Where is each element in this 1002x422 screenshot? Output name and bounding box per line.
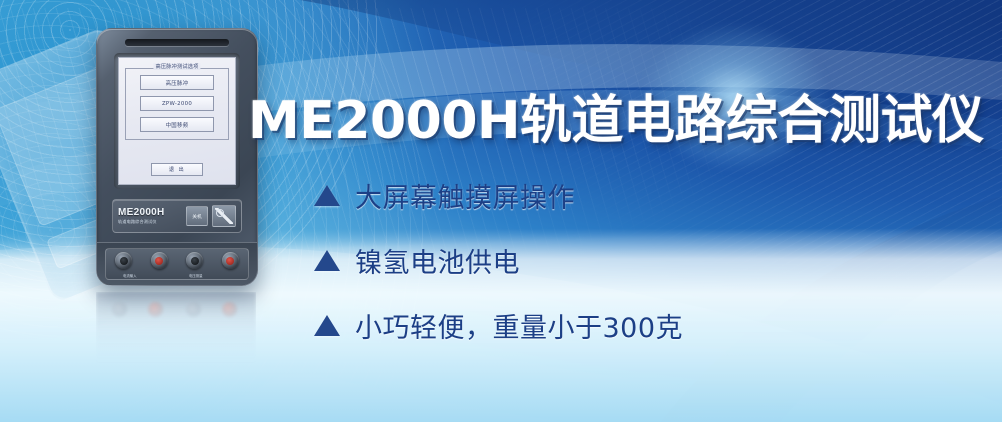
port-label-current: 电流输入 bbox=[123, 273, 137, 278]
device-reflection bbox=[96, 292, 256, 388]
brightness-icon[interactable] bbox=[212, 205, 236, 227]
device-model-subtitle: 轨道电路综合测试仪 bbox=[118, 220, 182, 224]
port-current-red[interactable] bbox=[151, 252, 168, 269]
device-lcd-screen[interactable]: 高压脉冲测试选项 高压脉冲 ZPW-2000 中国移频 退 出 bbox=[118, 57, 236, 185]
port-current-black[interactable] bbox=[115, 252, 132, 269]
device-power-off-key[interactable]: 关机 bbox=[186, 206, 208, 226]
screen-option-2[interactable]: ZPW-2000 bbox=[140, 96, 214, 111]
feature-label: 小巧轻便，重量小于300克 bbox=[355, 306, 683, 345]
port-voltage-red[interactable] bbox=[222, 252, 239, 269]
screen-group-title: 高压脉冲测试选项 bbox=[153, 63, 200, 70]
device-bottom-panel: 电流输入 电压测量 bbox=[97, 242, 257, 285]
feature-item: 小巧轻便，重量小于300克 bbox=[314, 306, 683, 345]
triangle-bullet-icon bbox=[314, 250, 340, 271]
feature-item: 大屏幕触摸屏操作 bbox=[314, 176, 683, 215]
triangle-bullet-icon bbox=[314, 315, 340, 336]
device-screen-bezel: 高压脉冲测试选项 高压脉冲 ZPW-2000 中国移频 退 出 bbox=[114, 53, 240, 189]
feature-list: 大屏幕触摸屏操作 镍氢电池供电 小巧轻便，重量小于300克 bbox=[314, 176, 683, 345]
screen-option-group: 高压脉冲测试选项 高压脉冲 ZPW-2000 中国移频 bbox=[125, 68, 229, 140]
device-label-plate: ME2000H 轨道电路综合测试仪 关机 bbox=[112, 199, 242, 233]
page-title: ME2000H轨道电路综合测试仪 bbox=[248, 78, 984, 153]
feature-label: 大屏幕触摸屏操作 bbox=[355, 176, 575, 215]
feature-item: 镍氢电池供电 bbox=[314, 241, 683, 280]
feature-label: 镍氢电池供电 bbox=[355, 241, 520, 280]
screen-option-1[interactable]: 高压脉冲 bbox=[140, 75, 214, 90]
product-banner: 高压脉冲测试选项 高压脉冲 ZPW-2000 中国移频 退 出 ME2000H … bbox=[0, 0, 1002, 422]
screen-exit-button[interactable]: 退 出 bbox=[151, 163, 203, 176]
device-port-bar: 电流输入 电压测量 bbox=[105, 248, 249, 280]
port-label-voltage: 电压测量 bbox=[189, 273, 203, 278]
port-voltage-black[interactable] bbox=[186, 252, 203, 269]
screen-option-3[interactable]: 中国移频 bbox=[140, 117, 214, 132]
device-photo: 高压脉冲测试选项 高压脉冲 ZPW-2000 中国移频 退 出 ME2000H … bbox=[96, 28, 258, 286]
triangle-bullet-icon bbox=[314, 185, 340, 206]
device-model-text: ME2000H bbox=[118, 208, 182, 218]
device-top-slot bbox=[125, 39, 229, 46]
